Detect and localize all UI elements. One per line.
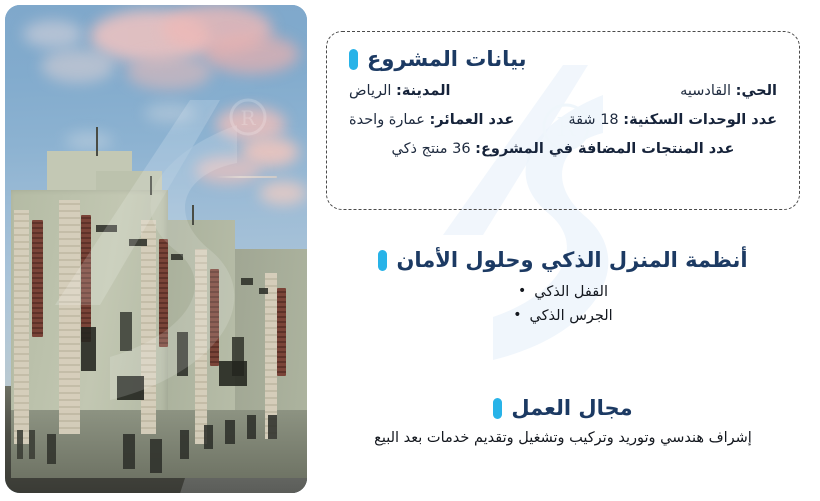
field-products-label: عدد المنتجات المضافة في المشروع: [475, 141, 734, 157]
field-district-label: الحي: [736, 83, 777, 99]
stone-cladding [141, 220, 156, 435]
work-field-body: إشراف هندسي وتوريد وتركيب وتشغيل وتقديم … [326, 427, 800, 450]
window [29, 430, 35, 459]
field-city-label: المدينة: [396, 83, 450, 99]
window [259, 288, 268, 294]
stone-cladding [59, 200, 80, 434]
list-item: الجرس الذكي [326, 304, 800, 328]
louver-panel [159, 239, 168, 346]
rooftop-antenna [192, 205, 194, 225]
list-item: القفل الذكي [326, 280, 800, 304]
cloud [144, 103, 196, 123]
window [150, 439, 162, 473]
data-row-products: عدد المنتجات المضافة في المشروع: 36 منتج… [349, 139, 777, 161]
field-city: المدينة: الرياض [349, 81, 451, 103]
project-data-heading-text: بيانات المشروع [367, 45, 527, 73]
window [219, 361, 246, 385]
smart-home-heading-text: أنظمة المنزل الذكي وحلول الأمان [396, 248, 747, 272]
field-city-value: الرياض [349, 83, 391, 99]
field-units-value: 18 شقة [568, 112, 618, 128]
rooftop-antenna [150, 176, 152, 196]
window [96, 225, 117, 233]
field-buildings-value: عمارة واحدة [349, 112, 425, 128]
smart-home-heading: أنظمة المنزل الذكي وحلول الأمان [326, 248, 800, 272]
residential-building-photo: R [5, 5, 307, 493]
content-panel: R بيانات المشروع الحي: القادسيه المدينة:… [318, 0, 820, 501]
data-row-city-district: الحي: القادسيه المدينة: الرياض [349, 81, 777, 103]
louver-panel [277, 288, 286, 376]
field-products: عدد المنتجات المضافة في المشروع: 36 منتج… [392, 139, 735, 161]
cloud [41, 49, 115, 83]
window [120, 312, 132, 351]
window [129, 239, 147, 246]
cloud [126, 54, 212, 90]
window [47, 434, 56, 463]
window [81, 327, 96, 371]
work-field-heading: مجال العمل [326, 396, 800, 420]
louver-panel [32, 220, 43, 337]
window [241, 278, 253, 284]
work-field-heading-text: مجال العمل [511, 396, 632, 420]
data-row-buildings-units: عدد الوحدات السكنية: 18 شقة عدد العمائر:… [349, 110, 777, 132]
louver-panel [210, 269, 219, 367]
smart-home-list: القفل الذكي الجرس الذكي [326, 280, 800, 329]
accent-pill-icon [349, 49, 358, 70]
cloud [259, 181, 307, 205]
field-buildings: عدد العمائر: عمارة واحدة [349, 110, 514, 132]
window [171, 254, 183, 260]
window [117, 376, 144, 400]
window [177, 332, 188, 376]
accent-pill-icon [493, 398, 502, 419]
field-units-label: عدد الوحدات السكنية: [623, 112, 777, 128]
project-data-rows: الحي: القادسيه المدينة: الرياض عدد الوحد… [349, 79, 777, 160]
window [204, 425, 213, 449]
window [123, 434, 135, 468]
work-field-section: مجال العمل إشراف هندسي وتوريد وتركيب وتش… [326, 396, 800, 450]
stone-cladding [195, 249, 207, 444]
window [17, 430, 23, 459]
field-units: عدد الوحدات السكنية: 18 شقة [568, 110, 777, 132]
stone-cladding [14, 210, 29, 444]
window [180, 430, 189, 459]
window [268, 415, 277, 439]
window [225, 420, 234, 444]
smart-home-section: أنظمة المنزل الذكي وحلول الأمان القفل ال… [326, 248, 800, 329]
cloud [65, 132, 113, 150]
cloud [23, 20, 83, 48]
project-info-card: R R بيانات المشروع الحي: القادسيه [0, 0, 820, 501]
field-buildings-label: عدد العمائر: [429, 112, 514, 128]
field-district: الحي: القادسيه [680, 81, 777, 103]
field-products-value: 36 منتج ذكي [392, 141, 471, 157]
field-district-value: القادسيه [680, 83, 731, 99]
project-data-card: بيانات المشروع الحي: القادسيه المدينة: ا… [326, 31, 800, 210]
window [247, 415, 256, 439]
project-data-heading: بيانات المشروع [349, 45, 777, 73]
contrail-streak [216, 176, 276, 178]
rooftop-antenna [96, 127, 98, 156]
louver-panel [81, 215, 92, 342]
accent-pill-icon [378, 250, 387, 271]
